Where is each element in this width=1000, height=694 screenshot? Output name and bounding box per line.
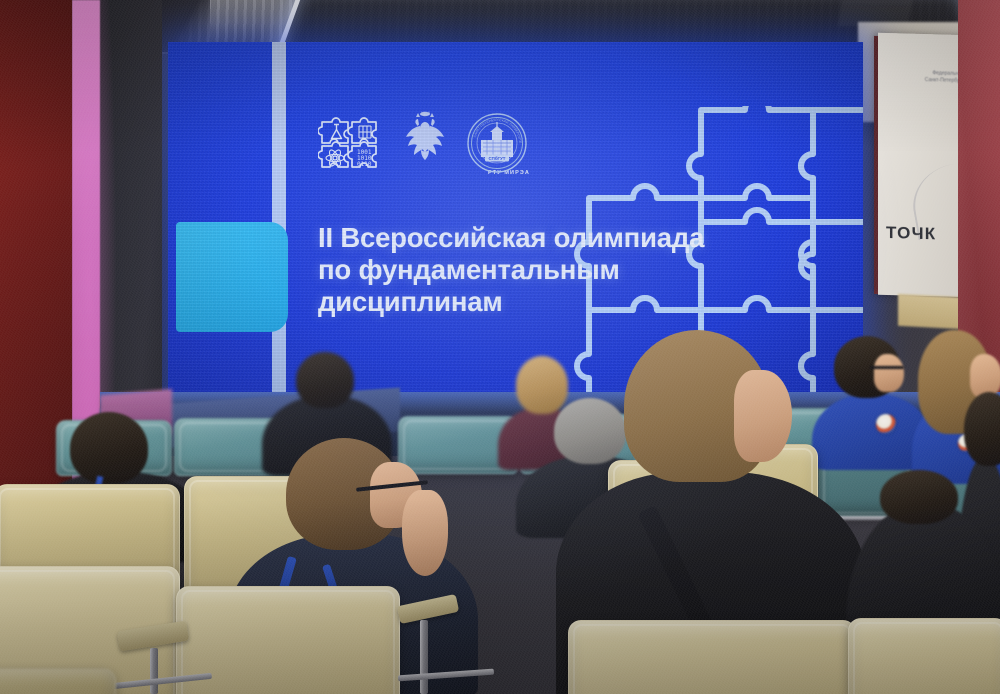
auditorium-photo: 100110100110	[0, 0, 1000, 694]
banner-small-text: Федеральное Санкт-Петербург	[890, 69, 964, 86]
glasses-icon	[870, 366, 904, 369]
seat-front-row	[0, 668, 116, 694]
seat-leg	[150, 648, 158, 694]
seat-leg	[420, 620, 428, 694]
seat-front-row	[568, 620, 856, 694]
seat-front-row	[848, 618, 1000, 694]
banner-headline: ТОЧК	[886, 223, 936, 244]
banner-small-line-2: Санкт-Петербург	[890, 76, 964, 85]
right-banner-poster: Федеральное Санкт-Петербург ТОЧК	[878, 33, 970, 298]
team-patch	[876, 414, 896, 434]
